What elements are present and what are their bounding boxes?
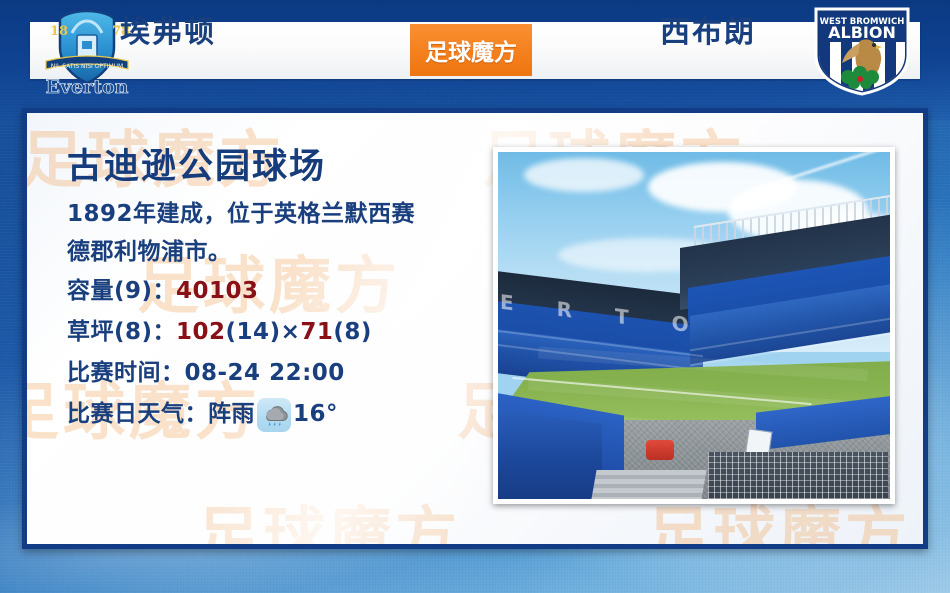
weather-temperature: 16° bbox=[293, 394, 338, 435]
photo-red-equipment-box bbox=[646, 440, 674, 460]
pitch-width-value: 71 bbox=[300, 319, 333, 345]
stadium-photo-frame: E R T O N E V E R T bbox=[493, 147, 895, 504]
pitch-label: 草坪(8)： bbox=[67, 319, 176, 345]
stadium-title: 古迪逊公园球场 bbox=[67, 145, 487, 189]
stadium-info-panel: 足球魔方 足球魔方 足球魔方 足球魔方 足球魔方 足球魔方 足球魔方 足球魔方 … bbox=[22, 108, 928, 549]
pitch-row: 草坪(8)：102(14)×71(8) bbox=[67, 312, 487, 353]
capacity-label: 容量(9)： bbox=[67, 278, 176, 304]
home-team-name: 埃弗顿 bbox=[120, 18, 216, 48]
weather-condition: 阵雨 bbox=[208, 394, 255, 435]
match-time-label: 比赛时间： bbox=[67, 360, 185, 386]
capacity-value: 40103 bbox=[176, 278, 259, 304]
photo-cloud bbox=[524, 158, 644, 192]
pitch-length-rating: (14) bbox=[226, 319, 281, 345]
match-time-value: 08-24 22:00 bbox=[185, 360, 345, 386]
weather-label: 比赛日天气： bbox=[67, 394, 208, 435]
brand-logo-badge[interactable]: 足球魔方 bbox=[410, 24, 532, 76]
weather-row: 比赛日天气：阵雨 16° bbox=[67, 394, 487, 435]
away-team-crest: WEST BROMWICH ALBION bbox=[808, 5, 916, 97]
photo-mesh-fence bbox=[708, 452, 888, 499]
svg-text:NIL SATIS NISI OPTIMUM: NIL SATIS NISI OPTIMUM bbox=[51, 63, 123, 70]
svg-text:ALBION: ALBION bbox=[828, 23, 896, 42]
stadium-description-line-1: 1892年建成，位于英格兰默西赛 bbox=[67, 195, 487, 233]
pitch-multiply-sign: × bbox=[281, 319, 301, 345]
capacity-row: 容量(9)：40103 bbox=[67, 271, 487, 312]
stadium-description-line-2: 德郡利物浦市。 bbox=[67, 233, 487, 271]
away-team-name: 西布朗 bbox=[660, 18, 756, 48]
stadium-photo: E R T O N E V E R T bbox=[498, 152, 890, 499]
svg-text:18: 18 bbox=[50, 24, 68, 39]
pitch-width-rating: (8) bbox=[333, 319, 372, 345]
stadium-info-card: 18 78 NIL SATIS NISI OPTIMUM Everton 埃弗顿… bbox=[0, 0, 950, 593]
brand-logo-text: 足球魔方 bbox=[425, 33, 517, 67]
photo-steps bbox=[591, 470, 706, 499]
panel-inner: 足球魔方 足球魔方 足球魔方 足球魔方 足球魔方 足球魔方 足球魔方 足球魔方 … bbox=[27, 113, 923, 544]
rain-cloud-icon bbox=[257, 398, 291, 432]
stadium-details: 古迪逊公园球场 1892年建成，位于英格兰默西赛 德郡利物浦市。 容量(9)：4… bbox=[67, 145, 487, 435]
pitch-length-value: 102 bbox=[176, 319, 226, 345]
match-time-row: 比赛时间：08-24 22:00 bbox=[67, 353, 487, 394]
svg-text:Everton: Everton bbox=[46, 76, 129, 97]
